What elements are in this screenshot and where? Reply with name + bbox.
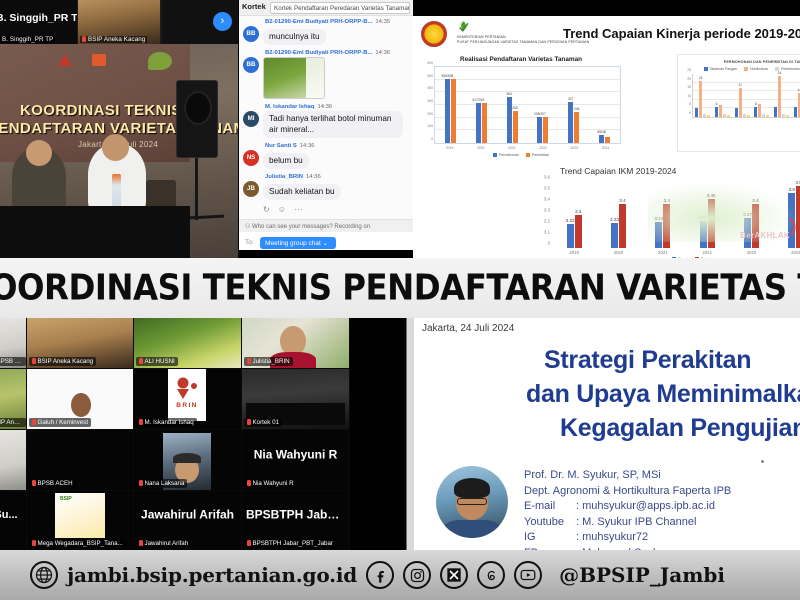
person-left-head	[26, 140, 52, 166]
youtube-value: : M. Syukur IPB Channel	[576, 516, 696, 528]
participant-display-name: Su...	[0, 509, 26, 521]
backdrop-logo-2	[92, 54, 106, 66]
microphone-icon	[139, 540, 143, 546]
bar-label: 508/508	[441, 74, 453, 78]
chevron-right-icon[interactable]: ›	[213, 12, 232, 31]
participant-name: Nana Laksana	[136, 479, 187, 488]
chart-permohonan-penerbitan: PERMOHONAN DAN PENERBITAN DI TAHUN 2019 …	[677, 54, 800, 152]
x-twitter-icon[interactable]	[440, 561, 468, 589]
speaker-body	[444, 520, 500, 538]
red-accent-icon	[788, 218, 798, 236]
brin-logo-card: BRIN	[168, 369, 206, 421]
chat-message-text: Sudah keliatan bu	[263, 184, 341, 200]
chat-message-header: Julistia_BRIN14:36	[263, 174, 408, 180]
social-handle[interactable]: @BPSIP_Jambi	[559, 563, 725, 587]
filmstrip-tile-name: B. Singgih_PR TP	[0, 36, 55, 43]
speaker-name: Prof. Dr. M. Syukur, SP, MSi	[524, 468, 731, 484]
glasses-icon	[457, 498, 487, 505]
chart-realisasi-pendaftaran: Realisasi Pendaftaran Varietas Tanaman 0…	[421, 56, 621, 181]
gallery-tile[interactable]: BSIP Mega Wegadara_BSIP_Tana...	[27, 491, 133, 550]
chart-plot-area: 0 100 200 300 400 500 600 508/508 317/31…	[434, 66, 621, 144]
ig-value: : muhsyukur72	[576, 531, 648, 543]
slide-left-edge	[400, 318, 414, 550]
avatar: JB	[243, 181, 259, 197]
chat-panel: Kortek Kortek Pendaftaran Peredaran Vari…	[238, 0, 413, 258]
avatar: BB	[243, 57, 259, 73]
chat-sender-name: M. Iskandar Ishaq	[265, 104, 314, 110]
chat-message-text: belum bu	[263, 153, 309, 169]
gallery-tile[interactable]	[0, 430, 26, 490]
main-stage-video[interactable]: KOORDINASI TEKNIS PENDAFTARAN VARIETAS T…	[0, 44, 238, 258]
participant-name: BPSBTPH Jabar_PBT_Jabar	[244, 539, 336, 548]
overlay-banner: KOORDINASI TEKNIS PENDAFTARAN VARIETAS T…	[0, 258, 800, 318]
email-value: : muhsyukur@apps.ipb.ac.id	[576, 500, 715, 512]
participant-name: Julistia_BRIN	[244, 357, 293, 366]
chat-privacy-note: ⚇ Who can see your messages? Recording o…	[239, 219, 413, 232]
chart-title: PERMOHONAN DAN PENERBITAN DI TAHUN 2019 …	[678, 55, 800, 64]
chat-timestamp: 14:36	[300, 143, 315, 149]
chevron-down-icon: ⌄	[323, 240, 328, 247]
participant-name: BPSB Jambi	[0, 357, 26, 366]
gallery-tile[interactable]: Kortek 01	[242, 369, 349, 429]
filmstrip-tile-name: BSIP Aneka Kacang	[80, 36, 147, 43]
threads-icon[interactable]	[477, 561, 505, 589]
speaker-stand	[195, 158, 198, 220]
chat-message: NS Nur Santi S14:36 belum bu	[243, 143, 408, 169]
slide-bullet-dot	[761, 460, 764, 463]
participant-video: BSIP	[55, 493, 105, 538]
participant-name: BSIP Aneka Kacang	[29, 357, 96, 366]
microphone-icon	[247, 358, 251, 364]
gallery-tile[interactable]: BPSB ACEH	[27, 430, 133, 490]
pvtpp-logo-icon	[457, 20, 470, 34]
microphone-icon	[139, 480, 143, 486]
microphone-icon	[247, 419, 251, 425]
chat-recipient-value: Meeting group chat	[265, 240, 321, 247]
participant-name: Mega Wegadara_BSIP_Tana...	[29, 539, 126, 548]
chat-timestamp: 14:36	[317, 104, 332, 110]
person-right-head	[102, 134, 129, 161]
gallery-tile[interactable]: BSIP Aneka Kacang	[0, 369, 26, 429]
chat-sender-name: Nur Santi S	[265, 143, 297, 149]
participant-name: M. Iskandar Ishaq	[136, 418, 197, 427]
filmstrip-tile-bsip[interactable]: BSIP Aneka Kacang	[78, 0, 160, 44]
facebook-icon[interactable]	[366, 561, 394, 589]
chart-bars: 21 6 17 6 24 14 23 15 21	[693, 74, 800, 117]
table	[0, 206, 190, 258]
chat-message-text: Tadi hanya terlihat botol minuman air mi…	[263, 111, 403, 138]
bar-label: 327	[568, 97, 574, 101]
microphone-icon	[139, 419, 143, 425]
bottom-row: BPSB Jambi BSIP Aneka Kacang ALI HUSNI J…	[0, 318, 800, 550]
gallery-tile[interactable]: Jawahirul Arifah Jawahirul Arifah	[134, 491, 241, 550]
gallery-tile[interactable]: Su...	[0, 491, 26, 550]
chart-bars: 508/508 317/315 364250 208/207 327248 65…	[435, 67, 620, 143]
gallery-tile[interactable]: Galuh / Keminvest	[27, 369, 133, 429]
chat-timestamp: 14:35	[375, 19, 390, 25]
gallery-empty-area	[350, 318, 400, 550]
chat-reaction-bar[interactable]: ↻ ☺ ⋯	[243, 205, 408, 214]
participant-name: Galuh / Keminvest	[29, 418, 91, 427]
speaker-dept: Dept. Agronomi & Hortikultura Faperta IP…	[524, 484, 731, 500]
chat-message-header: B2-01290-Emi Budiyati PRH-ORPP-B...14:36	[263, 50, 408, 56]
chat-tab-kortek[interactable]: Kortek	[242, 2, 266, 11]
chat-tabbar: Kortek Kortek Pendaftaran Peredaran Vari…	[239, 0, 413, 16]
microphone-icon	[247, 540, 251, 546]
presentation-heading-line3: Kegagalan Pengujian	[560, 414, 800, 443]
website-url[interactable]: jambi.bsip.pertanian.go.id	[67, 563, 357, 587]
gallery-tile[interactable]: BPSBTPH Jabar... BPSBTPH Jabar_PBT_Jabar	[242, 491, 349, 550]
participant-display-name: Nia Wahyuni R	[242, 448, 349, 462]
microphone-icon	[32, 540, 36, 546]
chat-message-header: B2-01290-Emi Budiyati PRH-ORPP-B...14:35	[263, 19, 408, 25]
chart-x-axis: 2019 2020 2021 2022 2023 2024	[434, 146, 621, 150]
participant-display-name: Jawahirul Arifah	[134, 507, 241, 521]
chat-bottom-strip	[239, 250, 413, 258]
chat-image-attachment[interactable]	[263, 57, 325, 99]
gallery-tile[interactable]: BPSB Jambi	[0, 318, 26, 368]
gallery-tile[interactable]: ALI HUSNI	[134, 318, 241, 368]
gallery-tile[interactable]: Julistia_BRIN	[242, 318, 349, 368]
gallery-tile[interactable]: Nana Laksana	[134, 430, 241, 490]
screenshot-root: B. Singgih_PR TP B. Singgih_PR TP BSIP A…	[0, 0, 800, 600]
participant-name: BPSB ACEH	[29, 479, 76, 488]
filmstrip: B. Singgih_PR TP B. Singgih_PR TP BSIP A…	[0, 0, 238, 44]
microphone-icon	[247, 480, 251, 486]
microphone-icon	[32, 358, 36, 364]
chat-message-header: Nur Santi S14:36	[263, 143, 408, 149]
kementan-logo-icon	[421, 21, 447, 47]
youtube-icon[interactable]	[514, 561, 542, 589]
speaker-hair	[454, 478, 490, 498]
bar-label: 208/207	[534, 112, 546, 116]
slide-title: Trend Capaian Kinerja periode 2019-2024	[563, 26, 800, 41]
email-label: E-mail	[524, 499, 576, 515]
chat-sender-name: Julistia_BRIN	[265, 174, 303, 180]
privacy-icon: ⚇	[245, 224, 252, 230]
presentation-date: Jakarta, 24 Juli 2024	[422, 323, 514, 334]
gallery-tile[interactable]: BRIN M. Iskandar Ishaq	[134, 369, 241, 429]
overlay-banner-text: KOORDINASI TEKNIS PENDAFTARAN VARIETAS T…	[0, 268, 800, 309]
chat-message: BB B2-01290-Emi Budiyati PRH-ORPP-B...14…	[243, 50, 408, 99]
loudspeaker	[176, 80, 218, 158]
chat-message-list[interactable]: BB B2-01290-Emi Budiyati PRH-ORPP-B...14…	[239, 16, 413, 228]
presentation-slide[interactable]: Jakarta, 24 Juli 2024 Strategi Perakitan…	[400, 318, 800, 550]
instagram-icon[interactable]	[403, 561, 431, 589]
chart-plot-area: 0 5 10 15 20 25 21 6 17 6 24 14	[692, 74, 800, 118]
bar-label: 364	[506, 92, 512, 96]
filmstrip-tile-active-speaker[interactable]: B. Singgih_PR TP B. Singgih_PR TP	[0, 0, 77, 44]
slide-canvas: KEMENTERIAN PERTANIAN PUSAT PERLINDUNGAN…	[413, 16, 800, 258]
shared-slide-charts[interactable]: KEMENTERIAN PERTANIAN PUSAT PERLINDUNGAN…	[413, 0, 800, 258]
chat-message-text: munculnya itu	[263, 29, 326, 45]
participant-name: ALI HUSNI	[136, 357, 178, 366]
chat-sender-name: B2-01290-Emi Budiyati PRH-ORPP-B...	[265, 19, 372, 25]
top-row: B. Singgih_PR TP B. Singgih_PR TP BSIP A…	[0, 0, 800, 258]
chart-legend: Tanaman Pangan Hortikultura Perkebunan T…	[678, 67, 800, 71]
microphone-icon	[139, 358, 143, 364]
microphone-icon	[32, 419, 36, 425]
chat-message: MI M. Iskandar Ishaq14:36 Tadi hanya ter…	[243, 104, 408, 138]
participant-name: Jawahirul Arifah	[136, 539, 191, 548]
berakhlak-watermark: BerAKHLAK	[740, 231, 790, 240]
ig-label: IG	[524, 530, 576, 546]
participant-gallery: BPSB Jambi BSIP Aneka Kacang ALI HUSNI J…	[0, 318, 400, 550]
chat-timestamp: 14:36	[306, 174, 321, 180]
chat-sender-name: B2-01290-Emi Budiyati PRH-ORPP-B...	[265, 50, 372, 56]
avatar: MI	[243, 111, 259, 127]
chat-recipient-dropdown[interactable]: Meeting group chat ⌄	[260, 237, 336, 249]
chat-message: JB Julistia_BRIN14:36 Sudah keliatan bu	[243, 174, 408, 200]
presentation-heading-line1: Strategi Perakitan	[544, 346, 751, 375]
bar-label: 65/48	[597, 130, 605, 134]
slide-org-line1: KEMENTERIAN PERTANIAN	[457, 35, 506, 39]
speaker-info: Prof. Dr. M. Syukur, SP, MSi Dept. Agron…	[524, 468, 731, 562]
stage-banner-line1: KOORDINASI TEKNIS	[20, 102, 182, 119]
globe-icon[interactable]	[30, 561, 58, 589]
speaker-photo	[436, 466, 508, 538]
participant-name: Kortek 01	[244, 418, 282, 427]
chat-timestamp: 14:36	[375, 50, 390, 56]
bar-label: 317/315	[472, 98, 484, 102]
meeting-video-pane: B. Singgih_PR TP B. Singgih_PR TP BSIP A…	[0, 0, 238, 258]
brin-logo-text: BRIN	[176, 402, 198, 409]
chat-recipient-row: To: Meeting group chat ⌄	[239, 232, 413, 250]
presentation-heading-line2: dan Upaya Meminimalkan	[526, 380, 800, 409]
avatar: NS	[243, 150, 259, 166]
participant-name: Nia Wahyuni R	[244, 479, 297, 488]
chart-x-axis: 2019 2020 2021 2022 2023 2024	[552, 250, 800, 255]
backdrop-logo-3	[148, 52, 172, 70]
footer-bar: jambi.bsip.pertanian.go.id @BPSIP_Jambi	[0, 550, 800, 600]
chat-message-header: M. Iskandar Ishaq14:36	[263, 104, 408, 110]
gallery-tile[interactable]: BSIP Aneka Kacang	[27, 318, 133, 368]
chat-message: BB B2-01290-Emi Budiyati PRH-ORPP-B...14…	[243, 19, 408, 45]
chat-to-label: To:	[245, 239, 254, 246]
microphone-icon	[32, 480, 36, 486]
gallery-tile[interactable]: Nia Wahyuni R Nia Wahyuni R	[242, 430, 349, 490]
chart-title: Trend Capaian IKM 2019-2024	[528, 166, 800, 176]
participant-display-name: BPSBTPH Jabar...	[242, 507, 349, 521]
participant-name: BSIP Aneka Kacang	[0, 418, 26, 427]
microphone-icon	[82, 36, 86, 42]
youtube-label: Youtube	[524, 515, 576, 531]
avatar: BB	[243, 26, 259, 42]
chart-legend: Permohonan Penerbitan	[421, 153, 621, 157]
active-speaker-label: B. Singgih_PR TP	[0, 12, 77, 24]
brin-logo-icon	[174, 377, 200, 401]
chat-tab-tooltip: Kortek Pendaftaran Peredaran Varietas Ta…	[270, 2, 410, 14]
chart-title: Realisasi Pendaftaran Varietas Tanaman	[421, 56, 621, 63]
